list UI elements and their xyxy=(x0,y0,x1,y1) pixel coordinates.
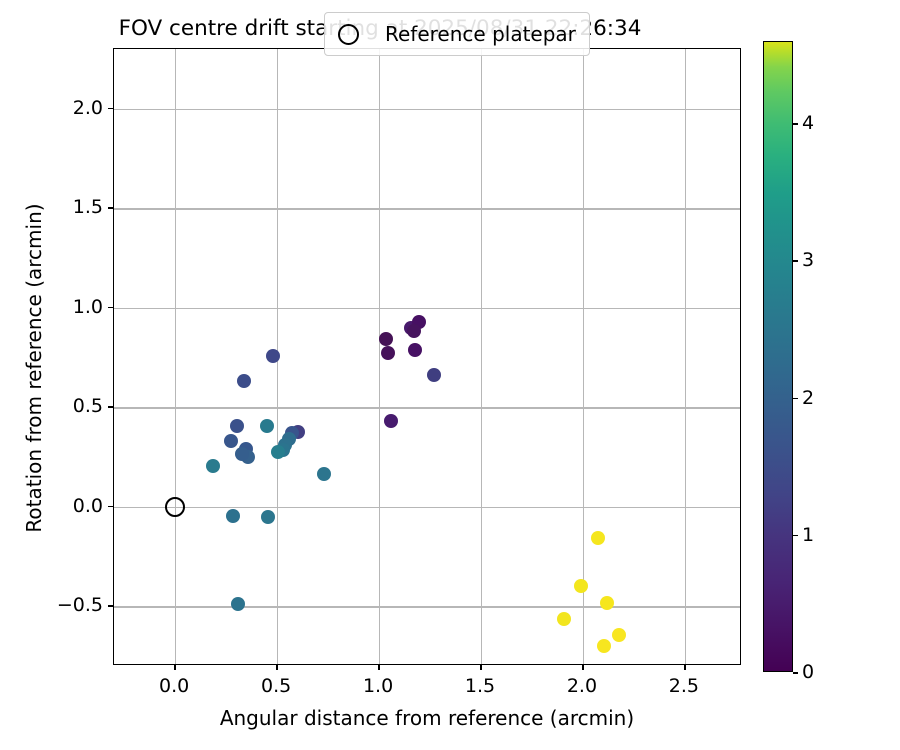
gridline-vertical xyxy=(685,49,686,664)
gridline-vertical xyxy=(583,49,584,664)
data-point xyxy=(379,332,393,346)
data-point xyxy=(574,579,588,593)
y-tick-mark xyxy=(108,506,113,508)
gridline-horizontal xyxy=(114,208,740,209)
data-point xyxy=(235,447,249,461)
y-tick-label: 2.0 xyxy=(73,97,103,119)
colorbar-tick-mark xyxy=(793,535,798,537)
y-tick-label: 0.5 xyxy=(73,395,103,417)
y-tick-label: 1.5 xyxy=(73,196,103,218)
reference-platepar-point xyxy=(165,497,185,517)
data-point xyxy=(557,612,571,626)
x-axis-label: Angular distance from reference (arcmin) xyxy=(113,706,741,730)
data-point xyxy=(224,434,238,448)
gridline-vertical xyxy=(175,49,176,664)
data-point xyxy=(408,343,422,357)
colorbar-tick-label: 4 xyxy=(802,112,814,134)
x-tick-label: 2.5 xyxy=(669,675,699,697)
gridline-vertical xyxy=(379,49,380,664)
data-point xyxy=(407,324,421,338)
data-point xyxy=(261,510,275,524)
x-tick-label: 1.0 xyxy=(363,675,393,697)
colorbar-tick-mark xyxy=(793,123,798,125)
data-point xyxy=(384,414,398,428)
data-point xyxy=(591,531,605,545)
gridline-horizontal xyxy=(114,606,740,607)
x-tick-label: 0.0 xyxy=(159,675,189,697)
y-tick-mark xyxy=(108,207,113,209)
colorbar-tick-label: 1 xyxy=(802,524,814,546)
colorbar-tick-mark xyxy=(793,398,798,400)
data-point xyxy=(206,459,220,473)
data-point xyxy=(381,346,395,360)
y-tick-mark xyxy=(108,605,113,607)
colorbar-tick-label: 0 xyxy=(802,661,814,683)
data-point xyxy=(260,419,274,433)
y-tick-mark xyxy=(108,108,113,110)
colorbar xyxy=(763,41,793,672)
data-point xyxy=(237,374,251,388)
y-tick-label: 0.0 xyxy=(73,495,103,517)
gridline-horizontal xyxy=(114,407,740,408)
y-axis-label: Rotation from reference (arcmin) xyxy=(22,58,46,678)
y-tick-mark xyxy=(108,307,113,309)
data-point xyxy=(317,467,331,481)
x-tick-mark xyxy=(582,665,584,670)
data-point xyxy=(226,509,240,523)
x-tick-label: 0.5 xyxy=(261,675,291,697)
gridline-horizontal xyxy=(114,308,740,309)
data-point xyxy=(612,628,626,642)
gridline-vertical xyxy=(481,49,482,664)
legend: Reference platepar xyxy=(324,12,590,56)
data-point xyxy=(231,597,245,611)
y-tick-label: 1.0 xyxy=(73,296,103,318)
data-point xyxy=(230,419,244,433)
data-point xyxy=(266,349,280,363)
x-tick-mark xyxy=(174,665,176,670)
data-point xyxy=(600,596,614,610)
y-tick-mark xyxy=(108,406,113,408)
matplotlib-figure: FOV centre drift starting at 2025/08/31 … xyxy=(0,0,900,750)
gridline-horizontal xyxy=(114,507,740,508)
x-tick-mark xyxy=(684,665,686,670)
colorbar-tick-mark xyxy=(793,260,798,262)
plot-area xyxy=(113,48,741,665)
colorbar-tick-label: 3 xyxy=(802,249,814,271)
data-point xyxy=(271,445,285,459)
x-tick-label: 1.5 xyxy=(465,675,495,697)
legend-label: Reference platepar xyxy=(385,22,576,46)
gridline-horizontal xyxy=(114,109,740,110)
colorbar-tick-mark xyxy=(793,672,798,674)
y-tick-label: −0.5 xyxy=(57,594,103,616)
x-tick-label: 2.0 xyxy=(567,675,597,697)
x-tick-mark xyxy=(276,665,278,670)
colorbar-tick-label: 2 xyxy=(802,387,814,409)
x-tick-mark xyxy=(378,665,380,670)
x-tick-mark xyxy=(480,665,482,670)
reference-platepar-marker-icon xyxy=(338,24,359,45)
data-point xyxy=(427,368,441,382)
data-point xyxy=(597,639,611,653)
